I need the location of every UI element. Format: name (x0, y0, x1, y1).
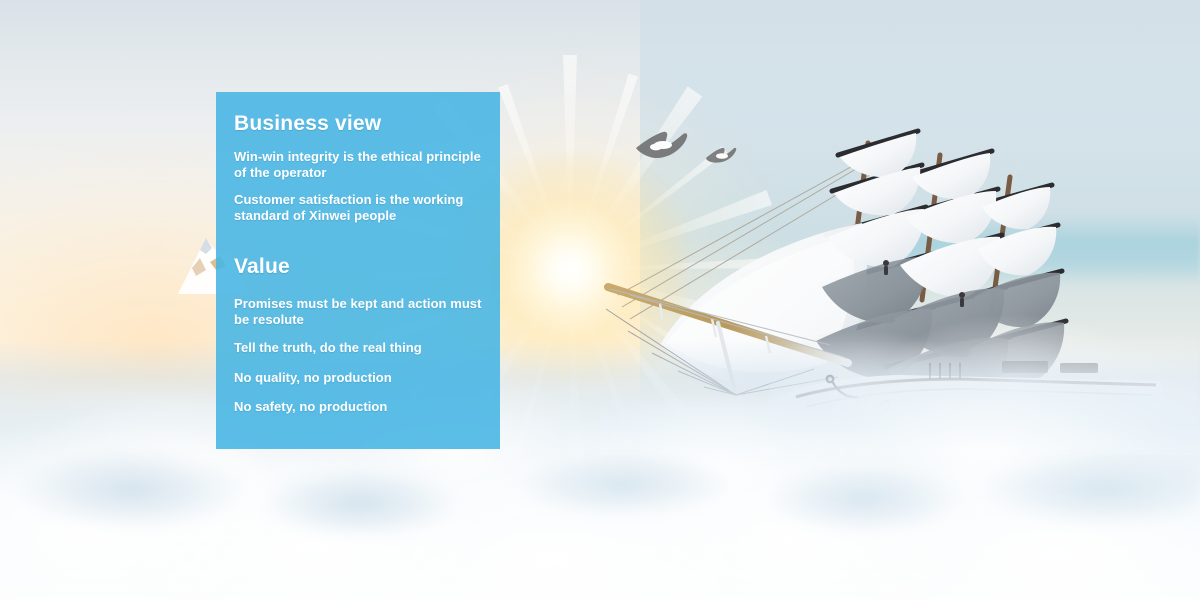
hero-banner: Business view Win-win integrity is the e… (0, 0, 1200, 600)
cloud-shadows (0, 370, 1200, 600)
value-heading: Value (234, 255, 482, 279)
business-view-item-1: Win-win integrity is the ethical princip… (234, 149, 482, 180)
seagull-large (636, 132, 687, 158)
value-item-1: Promises must be kept and action must be… (234, 296, 482, 327)
value-item-3: No quality, no production (234, 370, 482, 386)
seagull-small (706, 148, 736, 163)
business-view-list: Win-win integrity is the ethical princip… (234, 149, 482, 223)
info-panel: Business view Win-win integrity is the e… (216, 92, 500, 449)
business-view-heading: Business view (234, 112, 482, 136)
value-list: Promises must be kept and action must be… (234, 296, 482, 415)
value-item-4: No safety, no production (234, 399, 482, 415)
value-item-2: Tell the truth, do the real thing (234, 340, 482, 356)
seagulls (630, 120, 760, 180)
business-view-item-2: Customer satisfaction is the working sta… (234, 192, 482, 223)
